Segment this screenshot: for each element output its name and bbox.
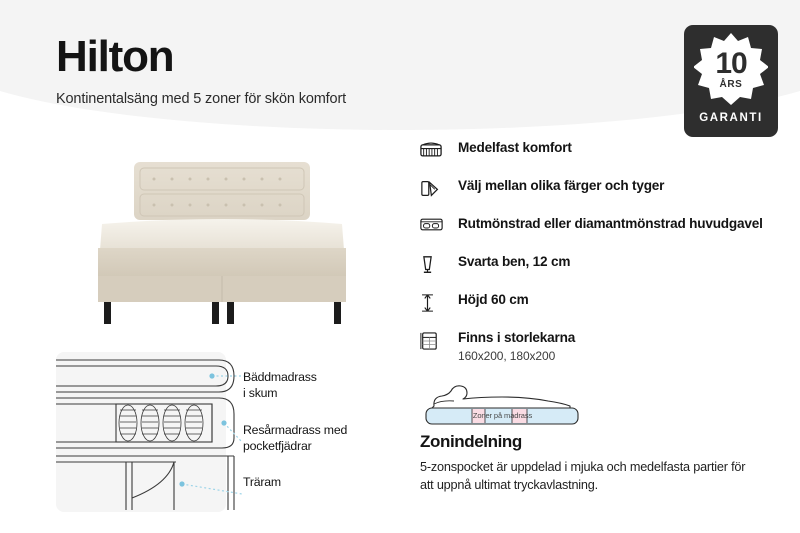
product-info-page: Hilton Kontinentalsäng med 5 zoner för s… [0, 0, 800, 533]
height-arrow-icon [420, 292, 450, 313]
bed-size-icon [420, 330, 450, 351]
layer-label-springs: Resårmadrass med pocketfjädrar [243, 423, 347, 455]
starburst-icon: 10 ÅRS [694, 32, 768, 106]
bed-leg-icon [420, 254, 450, 275]
mattress-firmness-icon [420, 140, 450, 158]
feature-row: Finns i storlekarna 160x200, 180x200 [420, 330, 790, 363]
feature-text: Finns i storlekarna 160x200, 180x200 [450, 330, 575, 363]
feature-sublabel: 160x200, 180x200 [458, 349, 575, 363]
zone-diagram-caption: Zoner på madrass [420, 411, 585, 420]
warranty-years: 10 [715, 49, 746, 79]
feature-row: Rutmönstrad eller diamantmönstrad huvudg… [420, 216, 790, 238]
zone-section-heading: Zonindelning [420, 432, 522, 452]
product-photo [72, 142, 372, 332]
feature-label: Svarta ben, 12 cm [458, 254, 570, 271]
feature-text: Rutmönstrad eller diamantmönstrad huvudg… [450, 216, 763, 233]
warranty-badge: 10 ÅRS GARANTI [684, 25, 778, 137]
feature-text: Svarta ben, 12 cm [450, 254, 570, 271]
warranty-label: GARANTI [699, 112, 763, 124]
feature-row: Svarta ben, 12 cm [420, 254, 790, 276]
feature-row: Välj mellan olika färger och tyger [420, 178, 790, 200]
feature-row: Medelfast komfort [420, 140, 790, 162]
layer-label-foam: Bäddmadrass i skum [243, 370, 317, 402]
cross-section-diagram [56, 352, 416, 512]
header-content: Hilton Kontinentalsäng med 5 zoner för s… [56, 34, 346, 107]
feature-label: Rutmönstrad eller diamantmönstrad huvudg… [458, 216, 763, 233]
feature-label: Höjd 60 cm [458, 292, 529, 309]
feature-label: Finns i storlekarna [458, 330, 575, 347]
feature-text: Medelfast komfort [450, 140, 572, 157]
headboard-icon [420, 216, 450, 232]
feature-text: Höjd 60 cm [450, 292, 529, 309]
page-title: Hilton [56, 34, 346, 80]
feature-list: Medelfast komfort Välj mellan olika färg… [420, 140, 790, 379]
layer-label-frame: Träram [243, 475, 281, 491]
feature-row: Höjd 60 cm [420, 292, 790, 314]
fabric-swatches-icon [420, 178, 450, 198]
feature-text: Välj mellan olika färger och tyger [450, 178, 664, 195]
zone-section-body: 5-zonspocket är uppdelad i mjuka och med… [420, 458, 750, 495]
warranty-years-unit: ÅRS [720, 80, 743, 90]
page-subtitle: Kontinentalsäng med 5 zoner för skön kom… [56, 91, 346, 107]
feature-label: Medelfast komfort [458, 140, 572, 157]
feature-label: Välj mellan olika färger och tyger [458, 178, 664, 195]
